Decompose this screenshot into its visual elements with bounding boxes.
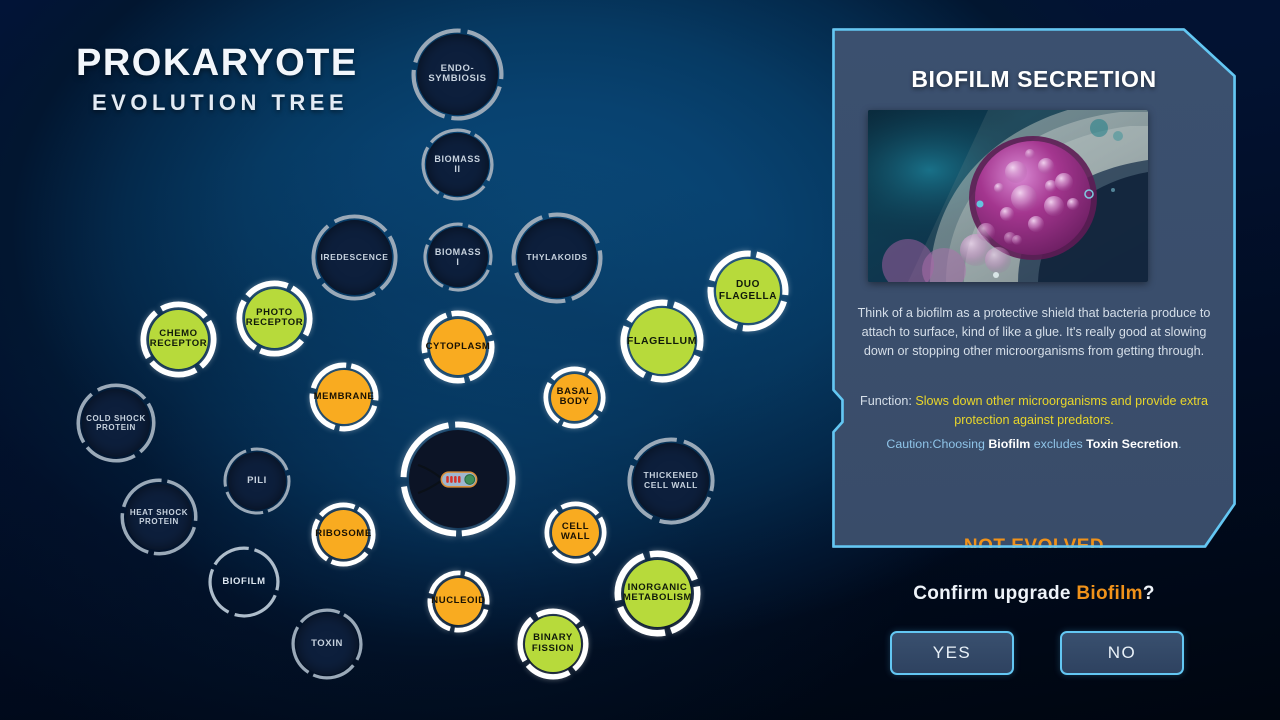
tree-node-photo-receptor[interactable]: PHOTORECEPTOR xyxy=(236,280,313,357)
node-label: HEAT SHOCKPROTEIN xyxy=(130,508,188,526)
node-core: THICKENEDCELL WALL xyxy=(633,443,709,519)
caution-mid: excludes xyxy=(1030,437,1086,451)
node-core: RIBOSOME xyxy=(319,510,368,559)
node-label: BIOMASSI xyxy=(435,247,481,268)
title-subtitle: EVOLUTION TREE xyxy=(92,92,358,114)
node-label: NUCLEOID xyxy=(431,596,485,607)
tree-node-biofilm[interactable]: BIOFILM xyxy=(208,546,280,618)
tree-node-membrane[interactable]: MEMBRANE xyxy=(309,362,379,432)
panel-function: Function: Slows down other microorganism… xyxy=(856,392,1212,430)
tree-node-endo-symbiosis[interactable]: ENDO-SYMBIOSIS xyxy=(411,28,504,121)
node-label: PHOTORECEPTOR xyxy=(246,308,303,330)
biofilm-cell-icon xyxy=(868,110,1148,282)
node-label: TOXIN xyxy=(311,639,343,650)
node-label: THYLAKOIDS xyxy=(526,253,587,263)
confirm-target: Biofilm xyxy=(1076,583,1143,604)
node-label: FLAGELLUM xyxy=(627,335,697,347)
node-core: MEMBRANE xyxy=(317,370,371,424)
caution-suffix: . xyxy=(1178,437,1181,451)
panel-description: Think of a biofilm as a protective shiel… xyxy=(856,304,1212,361)
biofilm-illustration xyxy=(868,110,1148,282)
tree-node-pili[interactable]: PILI xyxy=(223,447,291,515)
tree-node-biomass-i[interactable]: BIOMASSI xyxy=(423,222,493,292)
app-root: PROKARYOTE EVOLUTION TREE ENDO-SYMBIOSIS… xyxy=(0,0,1280,720)
caution-bold-toxin: Toxin Secretion xyxy=(1086,437,1178,451)
node-core xyxy=(409,430,507,528)
node-core: FLAGELLUM xyxy=(629,308,694,373)
tree-node-thickened-cell-wall[interactable]: THICKENEDCELL WALL xyxy=(627,437,715,525)
tree-node-inorganic-metabolism[interactable]: INORGANICMETABOLISM xyxy=(614,550,701,637)
tree-node-flagellum[interactable]: FLAGELLUM xyxy=(620,299,704,383)
tree-node-nucleoid[interactable]: NUCLEOID xyxy=(427,570,490,633)
caution-prefix: Choosing xyxy=(933,437,989,451)
tree-node-chemo-receptor[interactable]: CHEMORECEPTOR xyxy=(140,301,217,378)
node-label: BINARYFISSION xyxy=(532,633,574,655)
tree-node-thylakoids[interactable]: THYLAKOIDS xyxy=(511,212,603,304)
node-label: INORGANICMETABOLISM xyxy=(623,583,692,605)
node-core: TOXIN xyxy=(296,613,358,675)
node-label: THICKENEDCELL WALL xyxy=(643,471,698,491)
tree-node-duo-flagella[interactable]: DUOFLAGELLA xyxy=(707,250,789,332)
confirm-no-button[interactable]: NO xyxy=(1060,631,1184,675)
title-main: PROKARYOTE xyxy=(76,44,358,82)
node-label: BIOMASSII xyxy=(434,154,480,175)
tree-node-cell-wall[interactable]: CELL WALL xyxy=(544,501,607,564)
panel-caution: Caution:Choosing Biofilm excludes Toxin … xyxy=(850,435,1218,454)
tree-node-heat-shock-protein[interactable]: HEAT SHOCKPROTEIN xyxy=(120,478,198,556)
node-label: PILI xyxy=(247,476,267,487)
node-core: CHEMORECEPTOR xyxy=(149,310,208,369)
node-core: THYLAKOIDS xyxy=(517,218,597,298)
node-core: BIOMASSII xyxy=(426,133,488,195)
tree-node-toxin[interactable]: TOXIN xyxy=(291,608,363,680)
node-core: IREDESCENCE xyxy=(317,220,392,295)
tree-node-basal-body[interactable]: BASALBODY xyxy=(543,366,606,429)
confirm-question: Confirm upgrade Biofilm? xyxy=(832,583,1236,605)
node-label: CYTOPLASM xyxy=(426,342,491,353)
page-title: PROKARYOTE EVOLUTION TREE xyxy=(76,44,358,114)
tree-node-cytoplasm[interactable]: CYTOPLASM xyxy=(421,310,495,384)
node-core: PILI xyxy=(228,452,286,510)
node-label: RIBOSOME xyxy=(315,529,372,540)
info-panel: BIOFILM SECRETION xyxy=(832,28,1236,548)
confirm-prefix: Confirm upgrade xyxy=(913,583,1076,604)
node-core: DUOFLAGELLA xyxy=(716,259,780,323)
node-core: BINARYFISSION xyxy=(525,616,580,671)
node-core: PHOTORECEPTOR xyxy=(245,289,304,348)
tree-node-root-organism[interactable] xyxy=(400,421,516,537)
panel-title: BIOFILM SECRETION xyxy=(832,66,1236,93)
confirm-yes-button[interactable]: YES xyxy=(890,631,1014,675)
bacterium-icon xyxy=(409,430,507,528)
node-label: CELL WALL xyxy=(552,522,600,544)
node-core: ENDO-SYMBIOSIS xyxy=(417,34,498,115)
tree-node-iredescence[interactable]: IREDESCENCE xyxy=(311,214,398,301)
caution-label: Caution: xyxy=(886,437,932,451)
node-label: COLD SHOCKPROTEIN xyxy=(86,414,146,432)
node-label: BASALBODY xyxy=(557,387,593,409)
node-label: ENDO-SYMBIOSIS xyxy=(428,64,486,86)
function-text: Slows down other microorganisms and prov… xyxy=(915,394,1208,427)
tree-node-biomass-ii[interactable]: BIOMASSII xyxy=(421,128,494,201)
tree-node-ribosome[interactable]: RIBOSOME xyxy=(311,502,376,567)
node-core: BIOFILM xyxy=(213,551,275,613)
node-label: BIOFILM xyxy=(222,577,265,588)
caution-bold-biofilm: Biofilm xyxy=(988,437,1030,451)
node-label: CHEMORECEPTOR xyxy=(150,329,207,351)
node-label: MEMBRANE xyxy=(314,392,375,403)
node-label: IREDESCENCE xyxy=(320,253,388,263)
tree-node-binary-fission[interactable]: BINARYFISSION xyxy=(517,608,589,680)
tree-node-cold-shock-protein[interactable]: COLD SHOCKPROTEIN xyxy=(76,383,156,463)
confirm-suffix: ? xyxy=(1143,583,1155,604)
node-core: BIOMASSI xyxy=(428,227,488,287)
node-label: DUOFLAGELLA xyxy=(719,279,777,302)
function-label: Function: xyxy=(860,394,912,408)
